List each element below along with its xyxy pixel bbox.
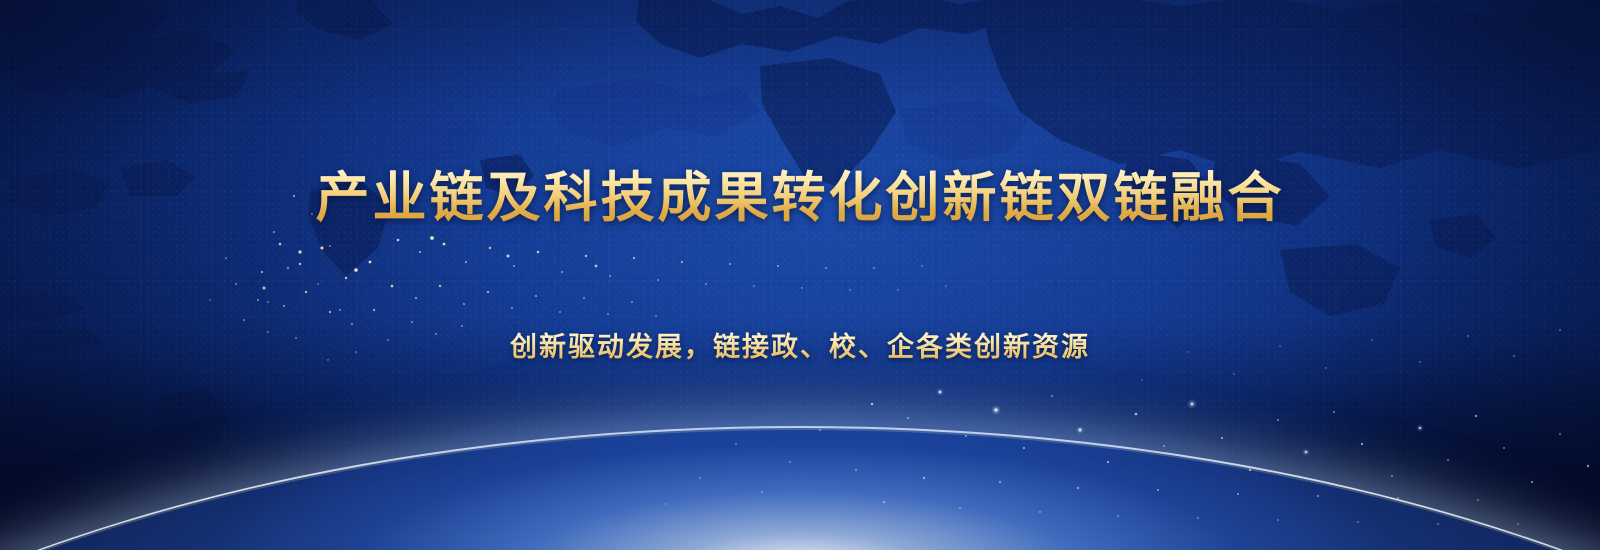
hero-banner: 产业链及科技成果转化创新链双链融合 创新驱动发展，链接政、校、企各类创新资源 — [0, 0, 1600, 550]
background-corner-shading — [0, 0, 1600, 550]
